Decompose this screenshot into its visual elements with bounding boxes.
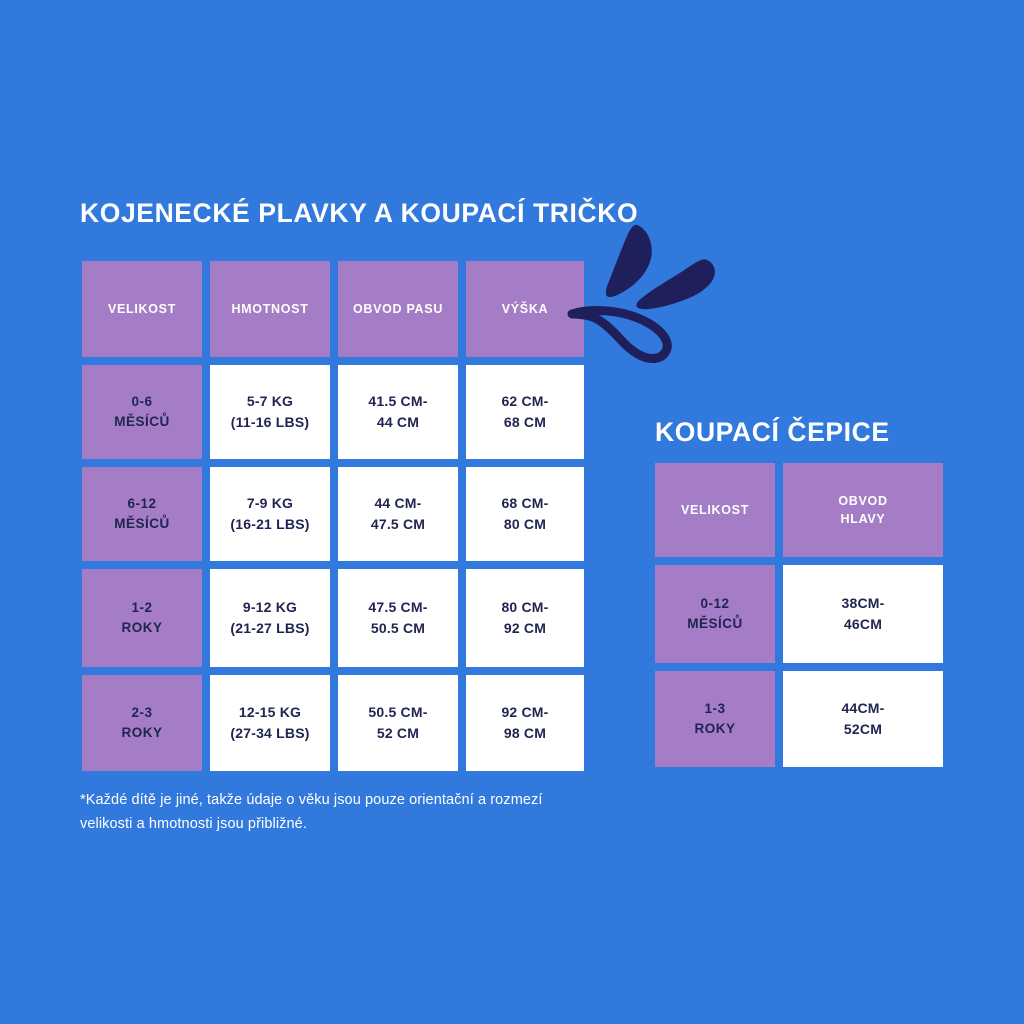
table-cell-height: 62 CM- 68 CM (466, 365, 584, 459)
swimwear-header-hmotnost: HMOTNOST (210, 261, 330, 357)
table-cell-waist: 44 CM- 47.5 CM (338, 467, 458, 561)
swimwear-header-velikost: VELIKOST (82, 261, 202, 357)
size-chart-canvas: KOJENECKÉ PLAVKY A KOUPACÍ TRIČKO VELIKO… (0, 0, 1024, 1024)
water-splash-icon (565, 218, 765, 368)
swimwear-header-obvod-pasu: OBVOD PASU (338, 261, 458, 357)
swimwear-section-title: KOJENECKÉ PLAVKY A KOUPACÍ TRIČKO (80, 200, 638, 227)
table-row: 0-6 MĚSÍCŮ (82, 365, 202, 459)
table-row: 2-3 ROKY (82, 675, 202, 771)
splash-drop-right (636, 259, 715, 309)
table-cell-head-circumference: 38CM- 46CM (783, 565, 943, 663)
swimcap-section-title: KOUPACÍ ČEPICE (655, 419, 890, 446)
table-cell-weight: 12-15 KG (27-34 LBS) (210, 675, 330, 771)
table-cell-head-circumference: 44CM- 52CM (783, 671, 943, 767)
table-row: 1-2 ROKY (82, 569, 202, 667)
table-row: 0-12 MĚSÍCŮ (655, 565, 775, 663)
table-row: 6-12 MĚSÍCŮ (82, 467, 202, 561)
swimcap-size-table: VELIKOST OBVOD HLAVY 0-12 MĚSÍCŮ 38CM- 4… (655, 463, 943, 767)
table-cell-height: 68 CM- 80 CM (466, 467, 584, 561)
table-cell-waist: 50.5 CM- 52 CM (338, 675, 458, 771)
swimwear-header-vyska: VÝŠKA (466, 261, 584, 357)
splash-loop (572, 311, 667, 359)
table-cell-weight: 5-7 KG (11-16 LBS) (210, 365, 330, 459)
table-cell-height: 92 CM- 98 CM (466, 675, 584, 771)
swimwear-size-table: VELIKOST HMOTNOST OBVOD PASU VÝŠKA 0-6 M… (82, 261, 584, 771)
table-cell-height: 80 CM- 92 CM (466, 569, 584, 667)
splash-drop-upper (606, 225, 652, 297)
table-cell-waist: 47.5 CM- 50.5 CM (338, 569, 458, 667)
table-cell-weight: 7-9 KG (16-21 LBS) (210, 467, 330, 561)
swimcap-header-obvod-hlavy: OBVOD HLAVY (783, 463, 943, 557)
swimcap-header-velikost: VELIKOST (655, 463, 775, 557)
table-cell-waist: 41.5 CM- 44 CM (338, 365, 458, 459)
table-row: 1-3 ROKY (655, 671, 775, 767)
footnote-disclaimer: *Každé dítě je jiné, takže údaje o věku … (80, 789, 705, 837)
table-cell-weight: 9-12 KG (21-27 LBS) (210, 569, 330, 667)
